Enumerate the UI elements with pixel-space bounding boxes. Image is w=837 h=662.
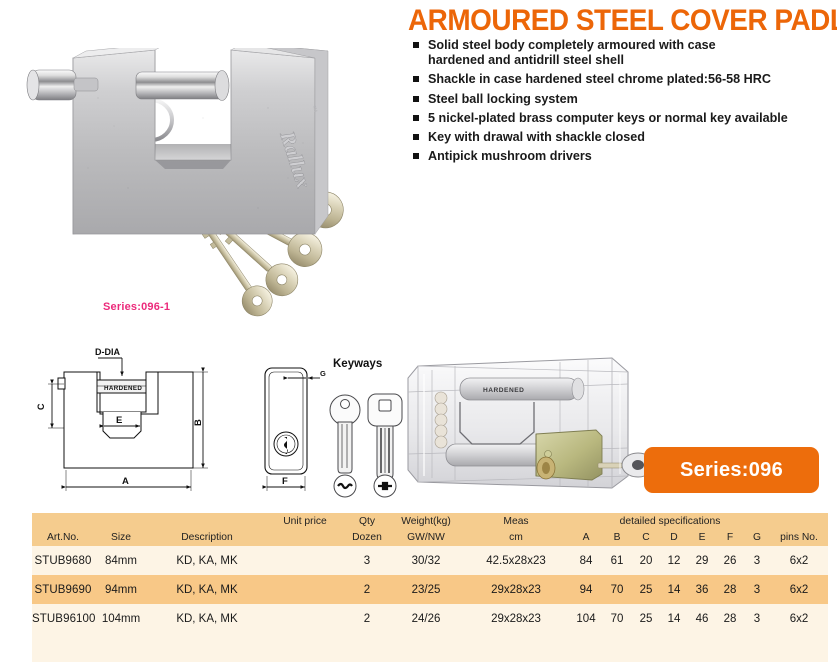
table-body: STUB9680 84mm KD, KA, MK 3 30/32 42.5x28… <box>32 546 828 662</box>
specifications-table: Unit price Qty Weight(kg) Meas detailed … <box>32 513 828 662</box>
product-photo: Rallux ™ Series:096-1 <box>18 48 393 328</box>
cell-B: 70 <box>602 604 632 633</box>
lock-cylinder <box>536 430 602 480</box>
cell-G: 3 <box>744 604 770 633</box>
feature-text-cont: hardened and antidrill steel shell <box>428 53 833 68</box>
page-title: ARMOURED STEEL COVER PADLOCK <box>408 6 803 36</box>
th-spacer-art <box>32 513 94 529</box>
cell-B: 70 <box>602 575 632 604</box>
feature-list: Solid steel body completely armoured wit… <box>413 38 833 168</box>
cell-unit-price <box>266 604 344 633</box>
th-qty: Qty <box>344 513 390 529</box>
cell-D: 14 <box>660 604 688 633</box>
specifications-table-wrap: Unit price Qty Weight(kg) Meas detailed … <box>32 513 807 662</box>
dim-A-label: A <box>122 476 129 487</box>
cell-E: 29 <box>688 546 716 575</box>
feature-text: Solid steel body completely armoured wit… <box>428 38 716 52</box>
th-spacer-desc <box>148 513 266 529</box>
th-cm: cm <box>462 529 570 546</box>
table-row: STUB96100 104mm KD, KA, MK 2 24/26 29x28… <box>32 604 828 633</box>
cell-meas: 29x28x23 <box>462 604 570 633</box>
cell-description: KD, KA, MK <box>148 604 266 633</box>
keyways-group <box>330 394 402 497</box>
table-header-row-top: Unit price Qty Weight(kg) Meas detailed … <box>32 513 828 529</box>
list-item: Steel ball locking system <box>413 92 833 107</box>
dim-C-label: C <box>36 403 46 410</box>
th-meas: Meas <box>462 513 570 529</box>
th-D: D <box>660 529 688 546</box>
cell-C: 25 <box>632 604 660 633</box>
th-dozen: Dozen <box>344 529 390 546</box>
cutaway-hardened-label: HARDENED <box>483 387 524 394</box>
feature-text: Antipick mushroom drivers <box>428 149 592 163</box>
cell-weight: 24/26 <box>390 604 462 633</box>
cell-E: 46 <box>688 604 716 633</box>
bullet-square-icon <box>413 96 419 102</box>
cell-pins-no: 6x2 <box>770 575 828 604</box>
cell-size: 104mm <box>94 604 148 633</box>
cell-weight: 23/25 <box>390 575 462 604</box>
cell-F: 28 <box>716 575 744 604</box>
th-G: G <box>744 529 770 546</box>
hardened-label: HARDENED <box>104 385 142 392</box>
table-footer-cell <box>32 633 828 662</box>
table-row: STUB9690 94mm KD, KA, MK 2 23/25 29x28x2… <box>32 575 828 604</box>
bullet-square-icon <box>413 42 419 48</box>
table-header: Unit price Qty Weight(kg) Meas detailed … <box>32 513 828 546</box>
th-description: Description <box>148 529 266 546</box>
d-dia-dimension <box>98 358 122 376</box>
th-weight: Weight(kg) <box>390 513 462 529</box>
th-F: F <box>716 529 744 546</box>
cell-pins-no: 6x2 <box>770 604 828 633</box>
bullet-square-icon <box>413 115 419 121</box>
list-item: Solid steel body completely armoured wit… <box>413 38 833 68</box>
cell-G: 3 <box>744 575 770 604</box>
cell-meas: 29x28x23 <box>462 575 570 604</box>
th-A: A <box>570 529 602 546</box>
cutaway-3d-view: HARDENED <box>408 358 654 488</box>
th-spacer-pins <box>770 513 828 529</box>
feature-text: Steel ball locking system <box>428 92 578 106</box>
dim-E-label: E <box>116 415 122 426</box>
cell-meas: 42.5x28x23 <box>462 546 570 575</box>
front-view-drawing <box>265 368 307 474</box>
cell-F: 28 <box>716 604 744 633</box>
th-E: E <box>688 529 716 546</box>
cell-A: 94 <box>570 575 602 604</box>
cell-D: 14 <box>660 575 688 604</box>
cell-E: 36 <box>688 575 716 604</box>
th-spacer-size <box>94 513 148 529</box>
cell-unit-price <box>266 575 344 604</box>
table-footer-spacer <box>32 633 828 662</box>
th-size: Size <box>94 529 148 546</box>
cell-pins-no: 6x2 <box>770 546 828 575</box>
catalog-page: Rallux ™ Series:096-1 ARMOURED STEEL COV… <box>0 0 837 641</box>
bullet-square-icon <box>413 134 419 140</box>
th-B: B <box>602 529 632 546</box>
cell-A: 84 <box>570 546 602 575</box>
keyhole-front <box>274 432 298 456</box>
feature-text: 5 nickel-plated brass computer keys or n… <box>428 111 788 125</box>
bullet-square-icon <box>413 153 419 159</box>
cell-A: 104 <box>570 604 602 633</box>
th-detailed-specifications: detailed specifications <box>570 513 770 529</box>
cell-qty-dozen: 2 <box>344 575 390 604</box>
cell-size: 84mm <box>94 546 148 575</box>
list-item: Shackle in case hardened steel chrome pl… <box>413 72 833 87</box>
cell-art-no: STUB9680 <box>32 546 94 575</box>
th-C: C <box>632 529 660 546</box>
series-photo-label: Series:096-1 <box>103 301 170 313</box>
keyways-title: Keyways <box>333 358 382 370</box>
cell-F: 26 <box>716 546 744 575</box>
cell-weight: 30/32 <box>390 546 462 575</box>
series-badge: Series:096 <box>644 447 819 493</box>
cell-description: KD, KA, MK <box>148 546 266 575</box>
cell-G: 3 <box>744 546 770 575</box>
list-item: Antipick mushroom drivers <box>413 149 833 164</box>
d-dia-label: D-DIA <box>95 347 120 357</box>
cell-qty-dozen: 3 <box>344 546 390 575</box>
list-item: 5 nickel-plated brass computer keys or n… <box>413 111 833 126</box>
feature-text: Key with drawal with shackle closed <box>428 130 645 144</box>
cell-C: 20 <box>632 546 660 575</box>
list-item: Key with drawal with shackle closed <box>413 130 833 145</box>
th-art-no: Art.No. <box>32 529 94 546</box>
cell-qty-dozen: 2 <box>344 604 390 633</box>
th-gw-nw: GW/NW <box>390 529 462 546</box>
table-header-row-bottom: Art.No. Size Description Dozen GW/NW cm … <box>32 529 828 546</box>
cell-size: 94mm <box>94 575 148 604</box>
padlock-photo-svg: Rallux ™ <box>18 48 393 328</box>
cell-art-no: STUB96100 <box>32 604 94 633</box>
feature-text: Shackle in case hardened steel chrome pl… <box>428 72 771 86</box>
th-pins-no: pins No. <box>770 529 828 546</box>
dim-F-label: F <box>282 476 288 487</box>
dim-G-label: G <box>320 369 326 378</box>
cell-description: KD, KA, MK <box>148 575 266 604</box>
th-unit-price-blank <box>266 529 344 546</box>
cell-B: 61 <box>602 546 632 575</box>
dim-B-label: B <box>193 419 204 426</box>
cell-unit-price <box>266 546 344 575</box>
table-row: STUB9680 84mm KD, KA, MK 3 30/32 42.5x28… <box>32 546 828 575</box>
bullet-square-icon <box>413 76 419 82</box>
dimension-C <box>48 384 64 428</box>
cell-C: 25 <box>632 575 660 604</box>
cell-D: 12 <box>660 546 688 575</box>
steel-balls <box>435 392 447 448</box>
th-unit-price: Unit price <box>266 513 344 529</box>
cell-art-no: STUB9690 <box>32 575 94 604</box>
